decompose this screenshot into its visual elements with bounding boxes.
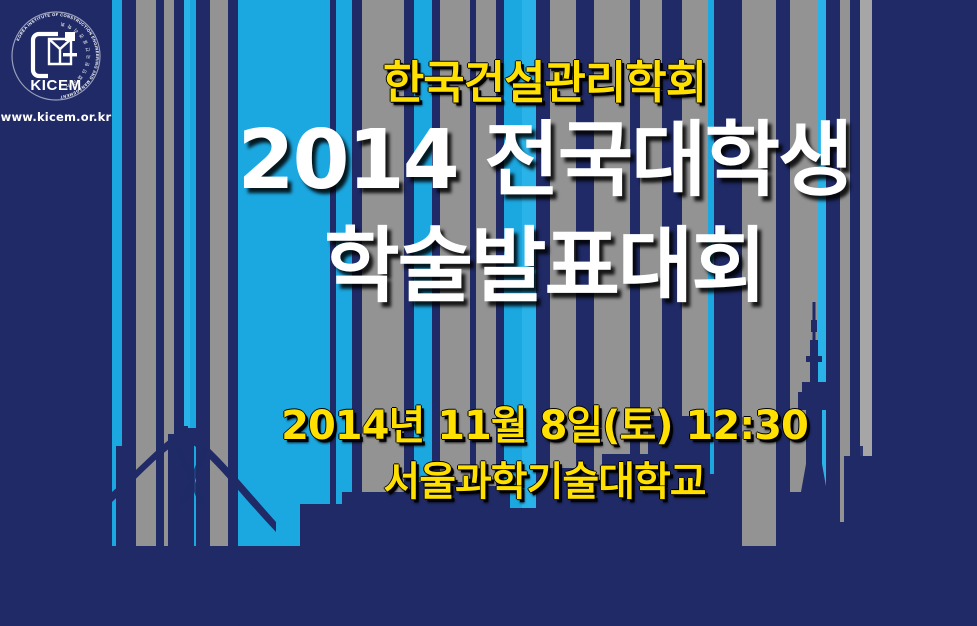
poster-title-line-1: 2014 전국대학생 bbox=[112, 120, 977, 202]
organization-name: 한국건설관리학회 bbox=[112, 46, 977, 111]
logo-sidebar: KOREA INSTITUTE OF CONSTRUCTION ENGINEER… bbox=[0, 0, 112, 626]
poster-text-block: 한국건설관리학회 2014 전국대학생 학술발표대회 2014년 11월 8일(… bbox=[112, 0, 977, 626]
website-url[interactable]: www.kicem.or.kr bbox=[0, 110, 112, 124]
kicem-logo-icon: KOREA INSTITUTE OF CONSTRUCTION ENGINEER… bbox=[8, 8, 104, 104]
event-venue: 서울과학기술대학교 bbox=[112, 449, 977, 507]
kicem-wordmark: KICEM bbox=[30, 77, 81, 94]
event-poster: KOREA INSTITUTE OF CONSTRUCTION ENGINEER… bbox=[0, 0, 977, 626]
kicem-logo-block: KOREA INSTITUTE OF CONSTRUCTION ENGINEER… bbox=[0, 8, 112, 124]
event-datetime: 2014년 11월 8일(토) 12:30 bbox=[112, 393, 977, 451]
poster-title-line-2: 학술발표대회 bbox=[112, 226, 977, 308]
